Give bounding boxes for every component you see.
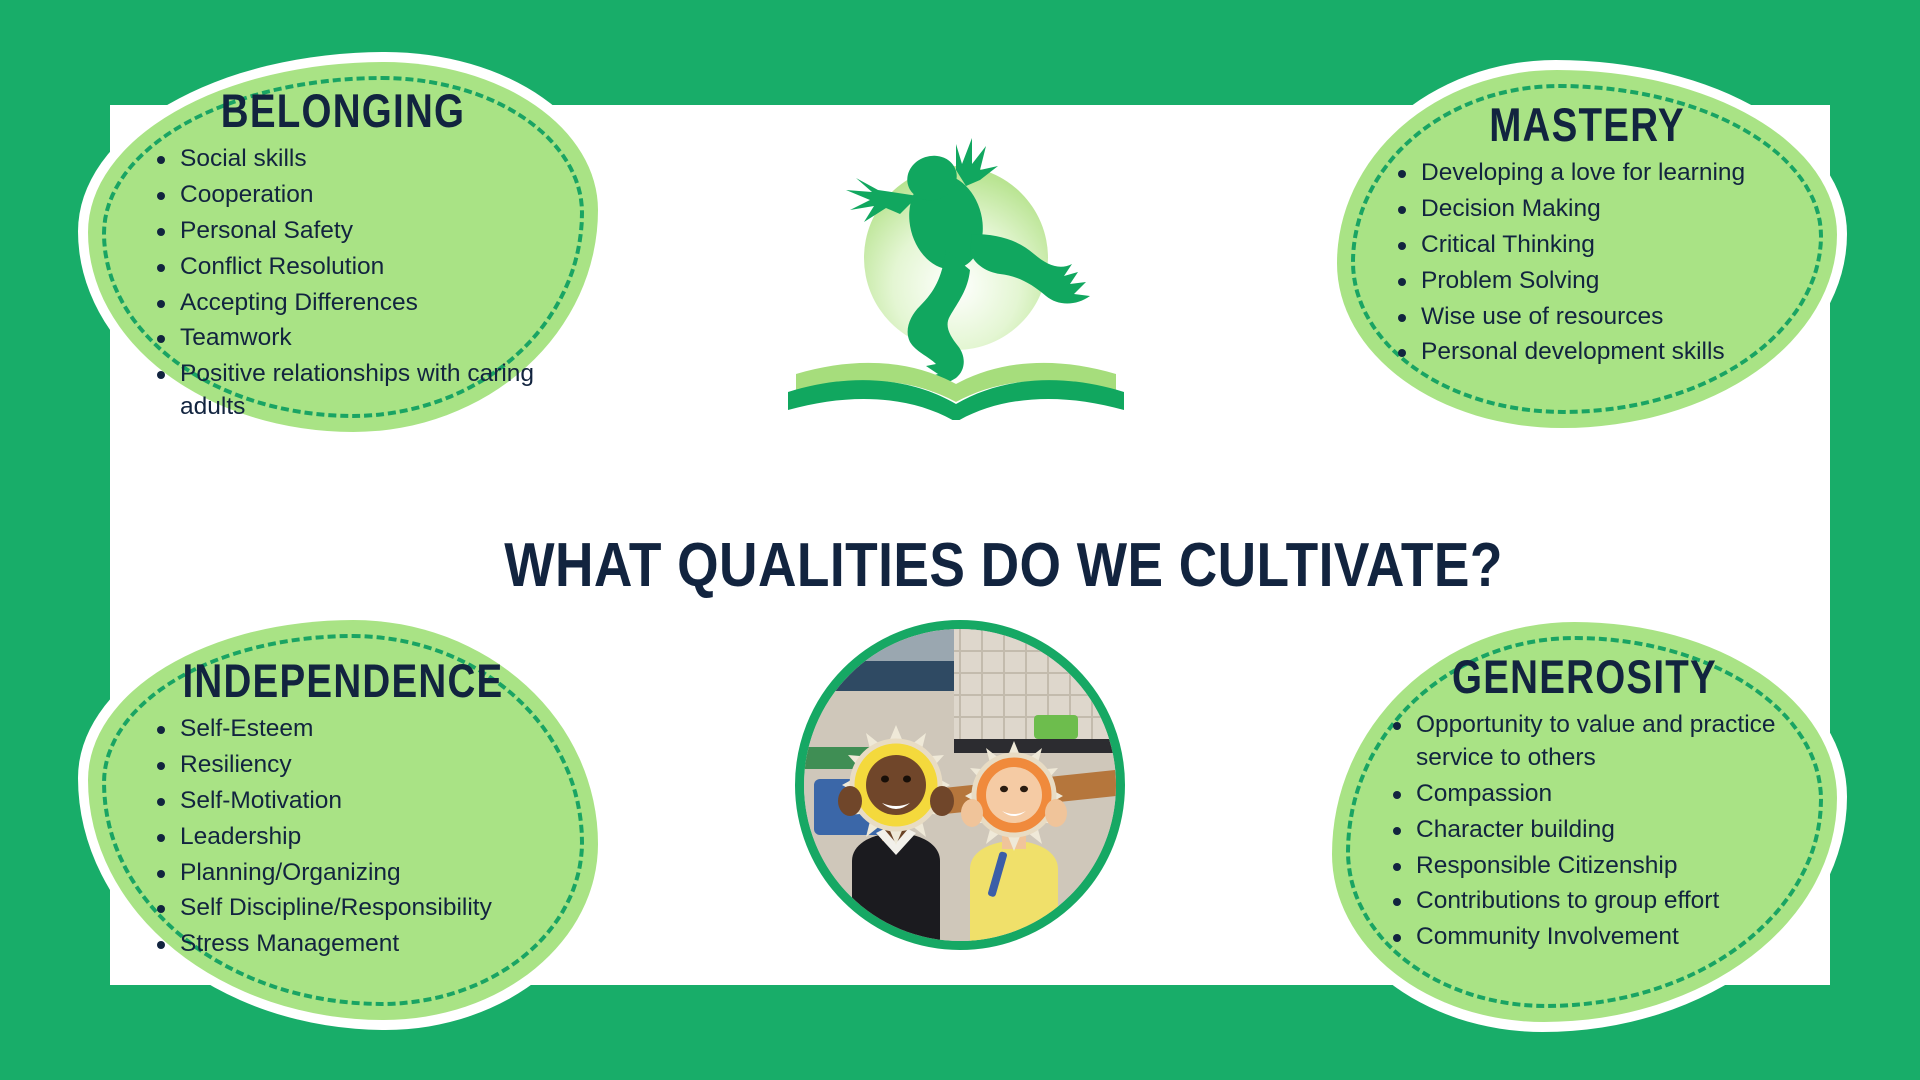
list-item: Character building: [1390, 814, 1801, 847]
list-item: Cooperation: [154, 179, 562, 212]
panel-independence: INDEPENDENCE Self-Esteem Resiliency Self…: [78, 610, 608, 1030]
list-item: Community Involvement: [1390, 921, 1801, 954]
panel-belonging: BELONGING Social skills Cooperation Pers…: [78, 52, 608, 442]
panel-title-mastery: MASTERY: [1412, 100, 1763, 149]
list-item: Opportunity to value and practice servic…: [1390, 709, 1801, 775]
list-item: Compassion: [1390, 778, 1801, 811]
list-item: Planning/Organizing: [154, 857, 562, 890]
panel-list-generosity: Opportunity to value and practice servic…: [1368, 709, 1801, 954]
list-item: Developing a love for learning: [1395, 157, 1801, 190]
list-item: Teamwork: [154, 322, 562, 355]
list-item: Social skills: [154, 143, 562, 176]
list-item: Responsible Citizenship: [1390, 850, 1801, 883]
panel-list-mastery: Developing a love for learning Decision …: [1373, 157, 1801, 369]
list-item: Self Discipline/Responsibility: [154, 892, 562, 925]
panel-list-independence: Self-Esteem Resiliency Self-Motivation L…: [124, 713, 562, 961]
two-children-with-paper-plate-sun-masks-photo: [795, 620, 1125, 950]
list-item: Problem Solving: [1395, 265, 1801, 298]
list-item: Self-Esteem: [154, 713, 562, 746]
list-item: Personal development skills: [1395, 336, 1801, 369]
panel-title-generosity: GENEROSITY: [1407, 652, 1762, 701]
panel-generosity: GENEROSITY Opportunity to value and prac…: [1322, 612, 1847, 1032]
list-item: Positive relationships with caring adult…: [154, 358, 562, 424]
list-item: Decision Making: [1395, 193, 1801, 226]
list-item: Contributions to group effort: [1390, 885, 1801, 918]
infographic-canvas: WHAT QUALITIES DO WE CULTIVATE?: [0, 0, 1920, 1080]
list-item: Leadership: [154, 821, 562, 854]
list-item: Self-Motivation: [154, 785, 562, 818]
list-item: Conflict Resolution: [154, 251, 562, 284]
panel-list-belonging: Social skills Cooperation Personal Safet…: [124, 143, 562, 424]
frog-on-open-book-logo: [760, 130, 1160, 420]
panel-mastery: MASTERY Developing a love for learning D…: [1327, 60, 1847, 438]
list-item: Personal Safety: [154, 215, 562, 248]
list-item: Stress Management: [154, 928, 562, 961]
panel-title-belonging: BELONGING: [163, 86, 522, 135]
panel-title-independence: INDEPENDENCE: [163, 656, 522, 705]
list-item: Critical Thinking: [1395, 229, 1801, 262]
list-item: Wise use of resources: [1395, 301, 1801, 334]
page-title: WHAT QUALITIES DO WE CULTIVATE?: [504, 530, 1416, 601]
list-item: Resiliency: [154, 749, 562, 782]
list-item: Accepting Differences: [154, 287, 562, 320]
